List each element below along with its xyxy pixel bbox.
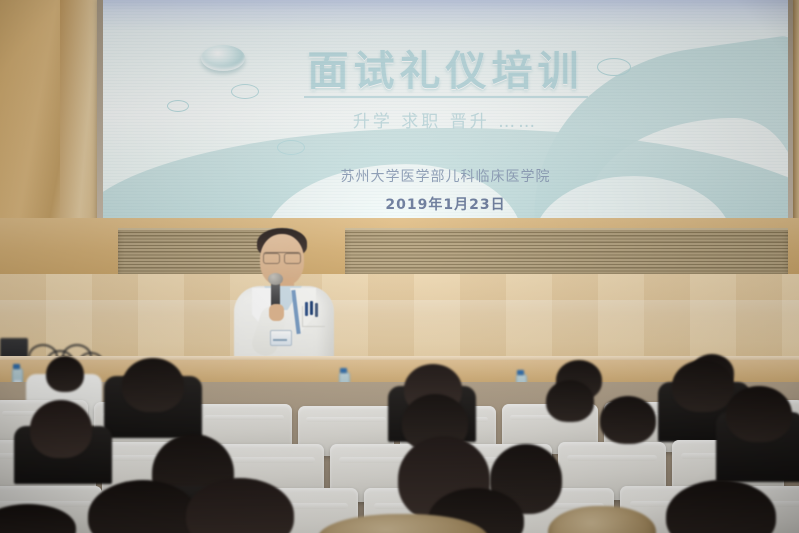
bottle-cap [13, 364, 20, 369]
microphone-head-icon [268, 273, 283, 285]
pen-icon [315, 303, 318, 317]
audience-area [0, 382, 799, 533]
attendee-head [546, 380, 594, 422]
lecture-hall-photo: 面试礼仪培训 升学 求职 晋升 …… 苏州大学医学部儿科临床医学院 2019年1… [0, 0, 799, 533]
slide-title: 面试礼仪培训 [304, 50, 588, 98]
projected-slide: 面试礼仪培训 升学 求职 晋升 …… 苏州大学医学部儿科临床医学院 2019年1… [103, 0, 788, 220]
attendee-head [600, 396, 656, 444]
attendee-head [122, 358, 184, 412]
speaker-hand [269, 304, 284, 321]
attendee-head [726, 386, 792, 442]
attendee-head [30, 400, 92, 458]
id-badge [270, 330, 292, 346]
slide-organization: 苏州大学医学部儿科临床医学院 [341, 166, 551, 186]
attendee-head [672, 360, 734, 412]
bottle-cap [340, 368, 347, 373]
bottle-cap [517, 370, 524, 375]
air-vent-grille [345, 228, 788, 278]
eyeglasses-icon [263, 252, 301, 262]
pen-icon [305, 302, 308, 316]
floor-reflection [0, 300, 799, 340]
slide-date: 2019年1月23日 [385, 194, 505, 214]
attendee-head [46, 356, 84, 392]
slide-subtitle: 升学 求职 晋升 …… [353, 107, 538, 132]
pen-icon [310, 301, 313, 315]
